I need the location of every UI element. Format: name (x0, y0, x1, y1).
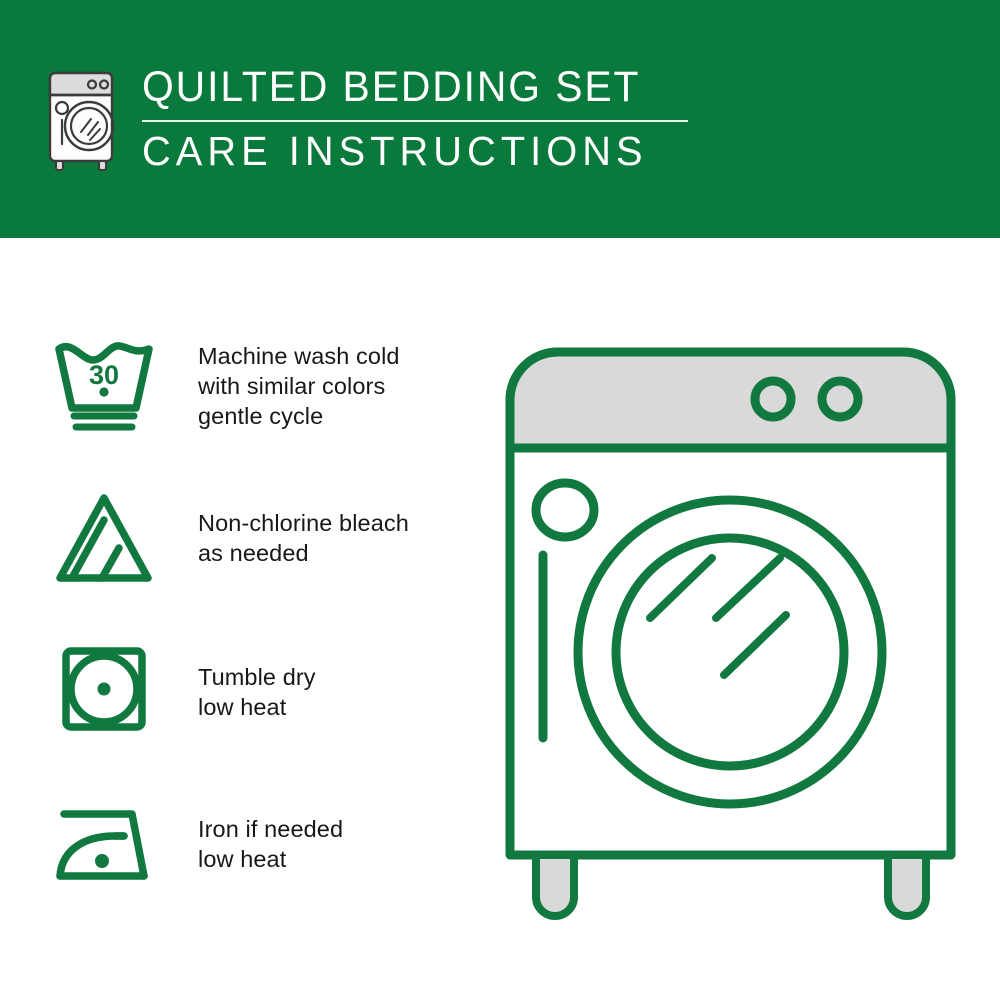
care-row-iron: Iron if needed low heat (52, 796, 343, 892)
wash-temperature-label: 30 (89, 360, 119, 390)
care-row-wash: 30 Machine wash cold with similar colors… (52, 338, 400, 434)
header-text-block: QUILTED BEDDING SET CARE INSTRUCTIONS (142, 66, 722, 172)
page-subtitle: CARE INSTRUCTIONS (142, 131, 705, 172)
title-divider (142, 120, 688, 122)
care-label-bleach: Non-chlorine bleach as needed (198, 508, 409, 568)
washing-machine-illustration (488, 330, 973, 930)
page-title: QUILTED BEDDING SET (142, 66, 693, 109)
triangle-non-chlorine-bleach-icon (52, 490, 160, 586)
care-label-tumble-dry: Tumble dry low heat (198, 662, 316, 722)
washer-leg-right (888, 855, 926, 916)
header-banner: QUILTED BEDDING SET CARE INSTRUCTIONS (0, 0, 1000, 238)
wash-tub-30-gentle-icon: 30 (52, 338, 160, 434)
tumble-dry-low-heat-icon (52, 644, 160, 740)
iron-low-heat-icon (52, 796, 160, 892)
washing-machine-icon (45, 68, 123, 172)
washer-leg-left (536, 855, 574, 916)
care-label-wash: Machine wash cold with similar colors ge… (198, 341, 400, 431)
care-row-bleach: Non-chlorine bleach as needed (52, 490, 409, 586)
care-label-iron: Iron if needed low heat (198, 814, 343, 874)
care-row-tumble-dry: Tumble dry low heat (52, 644, 316, 740)
care-instructions-page: QUILTED BEDDING SET CARE INSTRUCTIONS 30 (0, 0, 1000, 1000)
care-instruction-list: 30 Machine wash cold with similar colors… (0, 238, 480, 1000)
